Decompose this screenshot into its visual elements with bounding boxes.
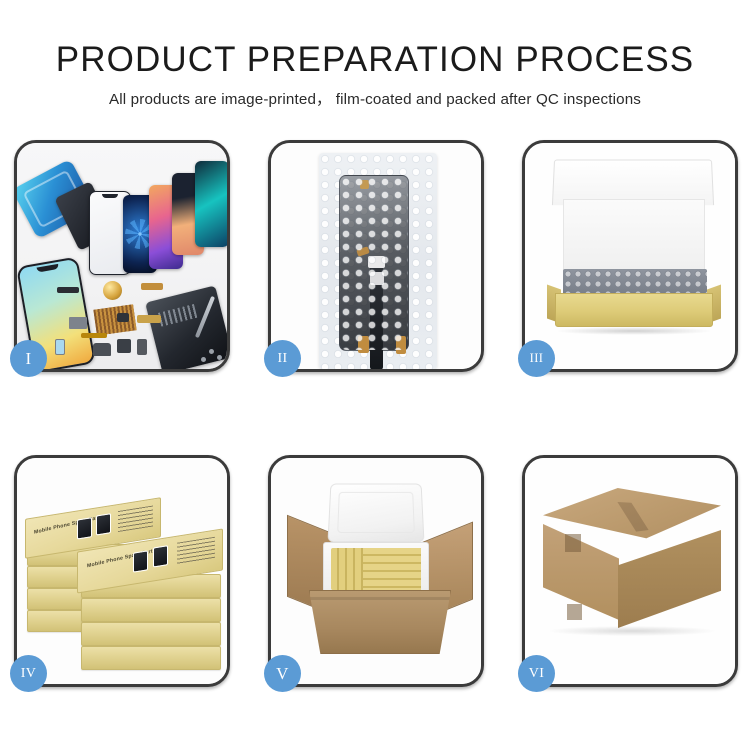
page-title: PRODUCT PREPARATION PROCESS [0,38,750,82]
box-label-spec-lines [118,506,153,533]
retail-box-icon [81,646,221,670]
step-image-sealed-carton [525,458,735,684]
step-card-3: III [522,140,738,372]
carton-seam-tab-icon [565,534,581,552]
step-badge-3: III [518,340,555,377]
step-card-4: Mobile Phone Spare Parts Mobile Phone Sp… [14,455,230,687]
box-stack: Mobile Phone Spare Parts Mobile Phone Sp… [23,478,227,678]
bubble-wrap-bag-icon [319,153,437,369]
product-preparation-infographic: PRODUCT PREPARATION PROCESS All products… [0,0,750,750]
phone-teal-display-icon [195,161,227,247]
screw-icon [201,357,206,362]
step-card-5: V [268,455,484,687]
kraft-box-front-icon [555,293,713,327]
bubble-texture-overlay [340,176,408,350]
process-step-grid: I II [14,140,738,687]
spare-part-icon [117,313,129,322]
step-image-products-overview [17,143,227,369]
carton-body-icon [309,590,451,654]
box-label-phone-image [153,545,168,567]
step-badge-1: I [10,340,47,377]
step-card-2: II [268,140,484,372]
step-image-bubble-wrap [271,143,481,369]
camera-module-icon [103,281,122,300]
retail-box-icon [81,598,221,622]
step-card-1: I [14,140,230,372]
step-image-inner-box [525,143,735,369]
drop-shadow [549,626,715,636]
step-badge-5: V [264,655,301,692]
spare-part-icon [55,339,65,355]
step-badge-6: VI [518,655,555,692]
header: PRODUCT PREPARATION PROCESS All products… [0,0,750,110]
step-badge-2: II [264,340,301,377]
step-image-carton-loading [271,458,481,684]
carton-right-face-icon [618,530,721,628]
screw-icon [209,349,214,354]
chip-array-icon [93,304,136,335]
spare-part-icon [93,343,111,356]
carton-seam-tab-icon [567,604,582,620]
spare-part-icon [117,339,131,353]
screw-icon [217,355,222,360]
box-label-text: Mobile Phone Spare Parts [34,514,103,536]
spare-part-icon [81,333,107,338]
spare-part-icon [141,283,163,290]
box-label-phone-image [77,518,92,540]
step-badge-4: IV [10,655,47,692]
retail-box-icon [81,622,221,646]
packed-retail-boxes-icon [331,548,421,590]
spare-part-icon [137,315,161,323]
lcd-screen-icon [339,175,409,351]
step-card-6: VI [522,455,738,687]
spare-part-icon [57,287,79,293]
page-subtitle: All products are image-printed， film-coa… [0,90,750,110]
foam-sheet-icon [563,199,705,271]
box-label-phone-image [133,550,148,572]
box-label-spec-lines [177,537,214,565]
drop-shadow [555,327,713,335]
spare-part-icon [69,317,87,329]
foam-cooler-lid-icon [327,484,424,543]
spare-part-icon [137,339,147,355]
step-image-retail-boxes: Mobile Phone Spare Parts Mobile Phone Sp… [17,458,227,684]
box-label-phone-image [96,513,111,535]
